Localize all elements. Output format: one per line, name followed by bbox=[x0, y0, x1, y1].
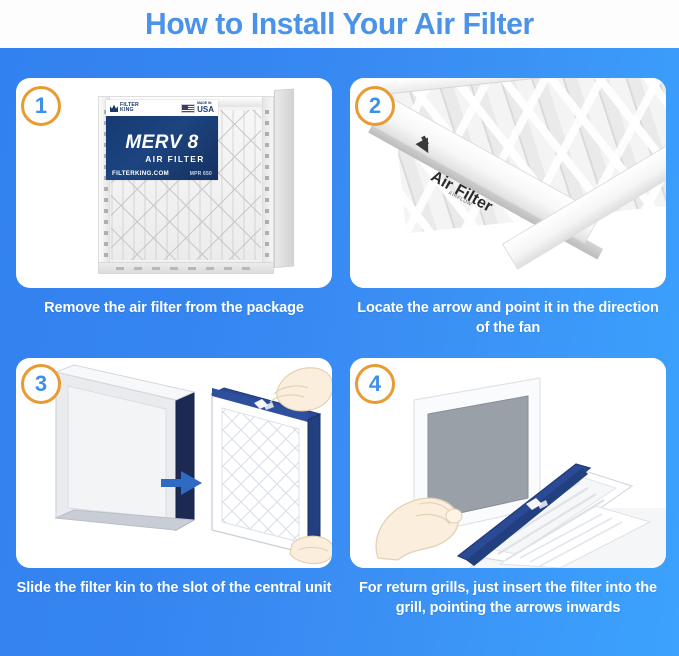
step-card-3 bbox=[16, 358, 332, 568]
product-type: AIR FILTER bbox=[119, 154, 204, 164]
filter-corner-arrow-photo: Air Filter AIRFLOW bbox=[350, 78, 666, 288]
step-badge-1: 1 bbox=[21, 86, 61, 126]
brand-name: FILTER KING bbox=[120, 103, 139, 114]
hand-illustration bbox=[376, 498, 462, 560]
filter-king-logo: FILTER KING bbox=[110, 103, 139, 114]
label-blue-panel: MERV 8 AIR FILTER FILTERKING.COM MPR 650 bbox=[106, 116, 218, 180]
step-card-1: FILTER KING MADE IN USA MERV 8 AIR bbox=[16, 78, 332, 288]
step-card-2: Air Filter AIRFLOW bbox=[350, 78, 666, 288]
step-card-4 bbox=[350, 358, 666, 568]
step-caption-4: For return grills, just insert the filte… bbox=[350, 578, 666, 618]
central-unit-housing bbox=[56, 365, 194, 530]
made-in-usa-text: MADE IN USA bbox=[197, 102, 214, 114]
step-caption-1: Remove the air filter from the package bbox=[16, 298, 332, 318]
brand-line-2: KING bbox=[120, 108, 139, 113]
mpr-rating: MPR 650 bbox=[190, 171, 212, 177]
slide-filter-into-slot-illustration bbox=[16, 358, 332, 568]
filter-staple-line-bottom bbox=[116, 267, 256, 270]
merv8-air-filter-product-photo: FILTER KING MADE IN USA MERV 8 AIR bbox=[94, 88, 299, 288]
merv-rating: MERV 8 bbox=[125, 133, 198, 153]
filter-side-face bbox=[274, 89, 294, 268]
us-flag-icon bbox=[181, 104, 195, 113]
new-air-filter bbox=[212, 388, 320, 554]
step-caption-2: Locate the arrow and point it in the dir… bbox=[350, 298, 666, 338]
step-badge-2: 2 bbox=[355, 86, 395, 126]
brand-website: FILTERKING.COM bbox=[112, 170, 169, 177]
step-badge-4: 4 bbox=[355, 364, 395, 404]
hand-illustration-bottom bbox=[290, 536, 332, 563]
crown-icon bbox=[110, 104, 118, 112]
slot-illustration-svg bbox=[16, 358, 332, 568]
filter-staple-line-right bbox=[265, 110, 269, 260]
label-footer-row: FILTERKING.COM MPR 650 bbox=[106, 170, 218, 177]
step-caption-3: Slide the filter kin to the slot of the … bbox=[16, 578, 332, 598]
product-label-sticker: FILTER KING MADE IN USA MERV 8 AIR bbox=[106, 100, 218, 180]
made-in-usa-badge: MADE IN USA bbox=[181, 102, 214, 114]
step-badge-3: 3 bbox=[21, 364, 61, 404]
infographic-page: How to Install Your Air Filter bbox=[0, 0, 679, 656]
grill-illustration-svg bbox=[350, 358, 666, 568]
country-label: USA bbox=[197, 106, 214, 114]
label-header-row: FILTER KING MADE IN USA bbox=[106, 100, 218, 116]
page-title: How to Install Your Air Filter bbox=[145, 6, 534, 42]
header-bar: How to Install Your Air Filter bbox=[0, 0, 679, 48]
insert-filter-into-return-grill-illustration bbox=[350, 358, 666, 568]
